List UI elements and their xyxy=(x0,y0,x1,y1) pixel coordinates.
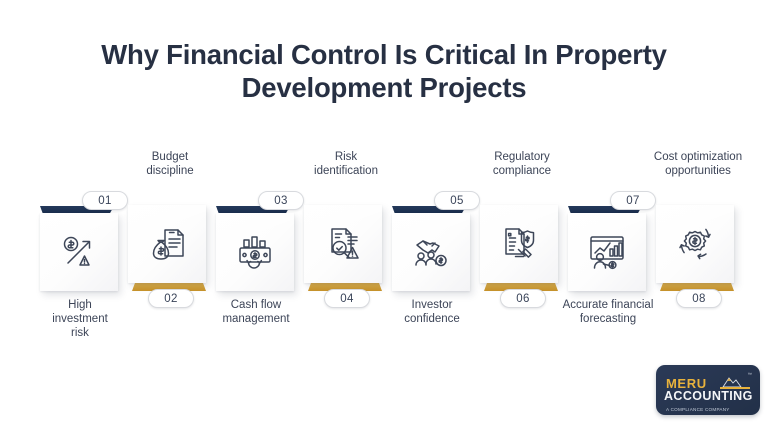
compliance-shield-gavel-icon xyxy=(480,205,558,283)
handshake-investors-icon xyxy=(392,213,470,291)
card-number-badge: 05 xyxy=(434,191,480,210)
card-body[interactable] xyxy=(128,205,206,283)
money-bag-invoice-icon xyxy=(128,205,206,283)
document-magnifier-warning-icon xyxy=(304,205,382,283)
card-number-badge: 07 xyxy=(610,191,656,210)
card-number-badge: 03 xyxy=(258,191,304,210)
card-body[interactable] xyxy=(216,213,294,291)
page-title-line-2: Development Projects xyxy=(48,71,720,104)
cash-flow-cycle-icon xyxy=(216,213,294,291)
logo-tagline: A COMPLIANCE COMPANY xyxy=(666,407,730,412)
presenter-chart-forecast-icon xyxy=(568,213,646,291)
card-number-badge: 08 xyxy=(676,289,722,308)
meru-accounting-logo: MERU ™ ACCOUNTING A COMPLIANCE COMPANY xyxy=(656,365,760,415)
card-body[interactable] xyxy=(40,213,118,291)
infographic-card-row: 01High investment risk 02Budget discipli… xyxy=(38,150,738,330)
card-body[interactable] xyxy=(304,205,382,283)
card-body[interactable] xyxy=(480,205,558,283)
gear-dollar-optimization-icon xyxy=(656,205,734,283)
card-label: Cost optimization opportunities xyxy=(623,150,768,178)
page-title: Why Financial Control Is Critical In Pro… xyxy=(0,38,768,104)
card-body[interactable] xyxy=(656,205,734,283)
page-title-line-1: Why Financial Control Is Critical In Pro… xyxy=(48,38,720,71)
card-body[interactable] xyxy=(392,213,470,291)
infographic-card-08[interactable]: 08Cost optimization opportunities xyxy=(654,150,742,330)
logo-brand-secondary: ACCOUNTING xyxy=(664,389,753,403)
dollar-growth-risk-icon xyxy=(40,213,118,291)
card-body[interactable] xyxy=(568,213,646,291)
card-number-badge: 01 xyxy=(82,191,128,210)
logo-trademark: ™ xyxy=(748,372,753,377)
